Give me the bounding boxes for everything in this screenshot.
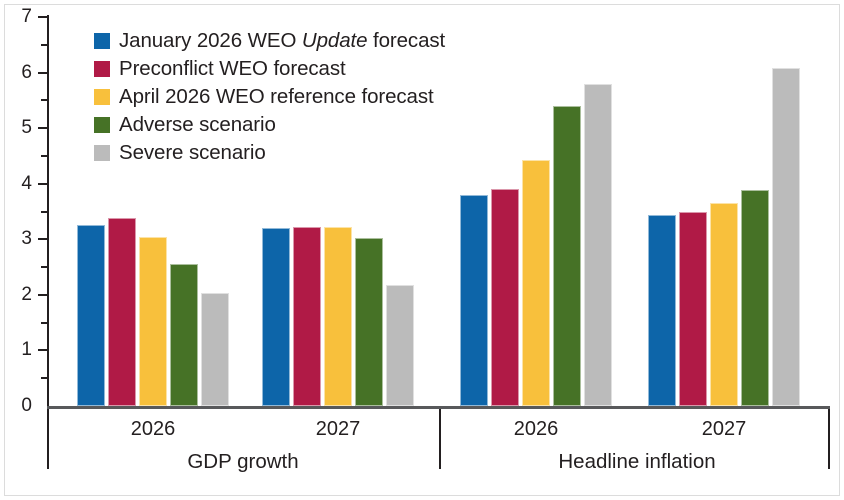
x-axis-group-label: 2027 bbox=[278, 418, 398, 441]
bar bbox=[710, 203, 738, 406]
legend-item[interactable]: January 2026 WEO Update forecast bbox=[94, 28, 445, 53]
y-axis-major-tick bbox=[38, 183, 47, 185]
legend-item[interactable]: Adverse scenario bbox=[94, 112, 445, 137]
legend-item-label: Adverse scenario bbox=[119, 113, 276, 137]
chart-container: 76543210 January 2026 WEO Update forecas… bbox=[0, 0, 844, 500]
legend-swatch-icon bbox=[94, 61, 110, 77]
bar bbox=[460, 195, 488, 406]
y-axis-tick-label: 2 bbox=[6, 285, 32, 304]
bar bbox=[741, 190, 769, 406]
legend-item-label: Preconflict WEO forecast bbox=[119, 57, 346, 81]
y-axis-major-tick bbox=[38, 294, 47, 296]
y-axis-tick-label: 4 bbox=[6, 174, 32, 193]
legend-item-label: January 2026 WEO Update forecast bbox=[119, 29, 445, 53]
legend-swatch-icon bbox=[94, 89, 110, 105]
y-axis-tick-label: 1 bbox=[6, 340, 32, 359]
axis-separator-right bbox=[828, 409, 830, 469]
legend-item-label: April 2026 WEO reference forecast bbox=[119, 85, 434, 109]
x-axis-group-label: 2026 bbox=[476, 418, 596, 441]
bar bbox=[324, 227, 352, 406]
bar bbox=[139, 237, 167, 406]
bar bbox=[772, 68, 800, 406]
x-axis-group-label: 2027 bbox=[664, 418, 784, 441]
y-axis-tick-label: 3 bbox=[6, 229, 32, 248]
y-axis-tick-label: 0 bbox=[6, 396, 32, 415]
bar bbox=[553, 106, 581, 406]
bar bbox=[355, 238, 383, 406]
y-axis-major-tick bbox=[38, 238, 47, 240]
legend-item[interactable]: Severe scenario bbox=[94, 140, 445, 165]
x-axis-section-label: Headline inflation bbox=[487, 450, 787, 474]
bar bbox=[108, 218, 136, 406]
bar bbox=[584, 84, 612, 406]
y-axis-tick-label: 7 bbox=[6, 7, 32, 26]
legend-swatch-icon bbox=[94, 33, 110, 49]
y-axis-major-tick bbox=[38, 16, 47, 18]
y-axis-major-tick bbox=[38, 349, 47, 351]
bar bbox=[293, 227, 321, 406]
legend-item[interactable]: Preconflict WEO forecast bbox=[94, 56, 445, 81]
legend-swatch-icon bbox=[94, 117, 110, 133]
bar bbox=[491, 189, 519, 406]
axis-separator-left bbox=[47, 409, 49, 469]
bar bbox=[77, 225, 105, 406]
y-axis-major-tick bbox=[38, 72, 47, 74]
bar bbox=[648, 215, 676, 406]
legend-swatch-icon bbox=[94, 145, 110, 161]
x-axis-group-label: 2026 bbox=[93, 418, 213, 441]
bar bbox=[262, 228, 290, 406]
x-axis-section-label: GDP growth bbox=[93, 450, 393, 474]
y-axis-tick-label: 6 bbox=[6, 63, 32, 82]
bar bbox=[522, 160, 550, 406]
bar bbox=[679, 212, 707, 406]
chart-legend: January 2026 WEO Update forecastPreconfl… bbox=[94, 28, 445, 165]
bar bbox=[386, 285, 414, 406]
legend-item[interactable]: April 2026 WEO reference forecast bbox=[94, 84, 445, 109]
bar bbox=[201, 293, 229, 406]
y-axis-tick-label: 5 bbox=[6, 118, 32, 137]
legend-item-label: Severe scenario bbox=[119, 141, 266, 165]
bar bbox=[170, 264, 198, 406]
y-axis-major-tick bbox=[38, 127, 47, 129]
axis-separator-middle bbox=[439, 409, 441, 469]
